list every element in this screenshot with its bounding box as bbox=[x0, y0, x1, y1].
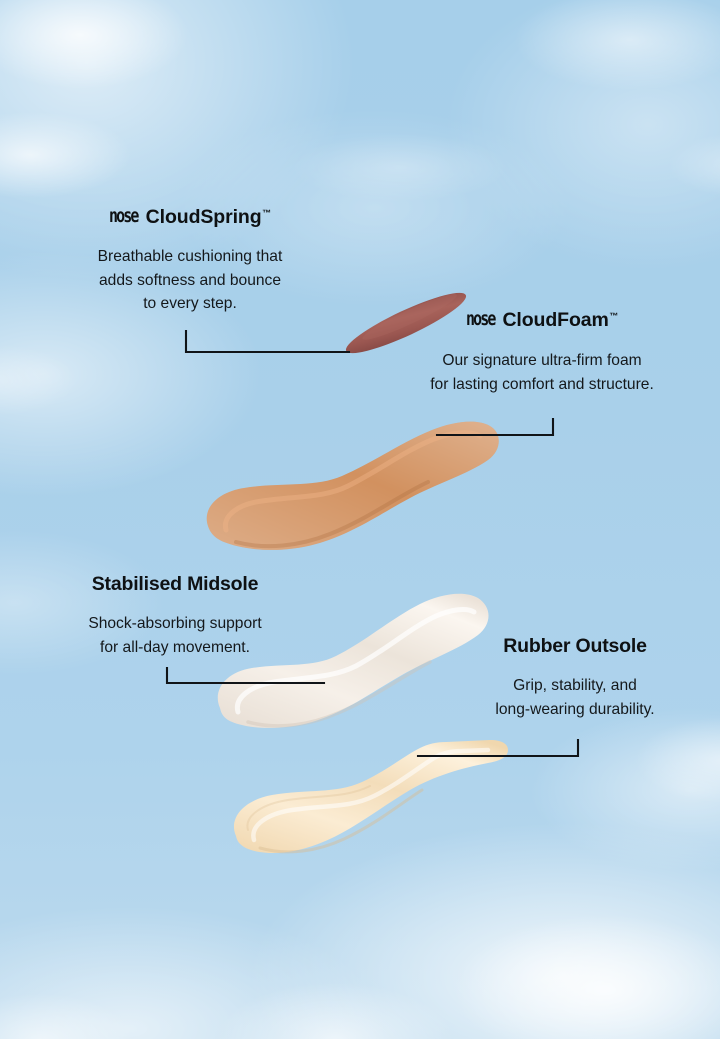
feature-block-midsole: Stabilised Midsole Shock-absorbing suppo… bbox=[18, 573, 332, 659]
feature-body-outsole: Grip, stability, and long-wearing durabi… bbox=[430, 674, 720, 721]
feature-body-midsole: Shock-absorbing support for all-day move… bbox=[18, 612, 332, 659]
feature-title-outsole: Rubber Outsole bbox=[503, 635, 646, 657]
feature-heading-midsole: Stabilised Midsole bbox=[18, 573, 332, 596]
feature-heading-outsole: Rubber Outsole bbox=[430, 635, 720, 658]
feature-block-cloudfoam: noseCloudFoam™ Our signature ultra-firm … bbox=[392, 309, 692, 396]
trademark-icon-cloudfoam: ™ bbox=[609, 311, 618, 321]
cloud-bottom-mid bbox=[170, 960, 500, 1039]
feature-body-cloudspring: Breathable cushioning that adds softness… bbox=[30, 245, 350, 316]
trademark-icon-cloudspring: ™ bbox=[262, 208, 271, 218]
cloud-right-upper bbox=[640, 120, 720, 210]
outsole-layer bbox=[222, 730, 542, 870]
cloud-mid-left bbox=[0, 330, 110, 430]
feature-title-cloudfoam: CloudFoam bbox=[502, 309, 608, 331]
nose-wordmark-cloudspring: nose bbox=[109, 205, 138, 227]
feature-block-cloudspring: noseCloudSpring™ Breathable cushioning t… bbox=[30, 206, 350, 316]
feature-body-cloudfoam: Our signature ultra-firm foam for lastin… bbox=[392, 349, 692, 396]
cloud-center-wisp bbox=[250, 120, 550, 215]
feature-heading-cloudspring: noseCloudSpring™ bbox=[30, 206, 350, 229]
cloud-top-left bbox=[0, 0, 230, 110]
cloudfoam-layer bbox=[196, 408, 506, 558]
feature-title-cloudspring: CloudSpring bbox=[146, 206, 262, 228]
leader-cloudspring bbox=[186, 331, 349, 352]
feature-block-outsole: Rubber Outsole Grip, stability, and long… bbox=[430, 635, 720, 721]
product-anatomy-infographic: noseCloudSpring™ Breathable cushioning t… bbox=[0, 0, 720, 1039]
cloud-left-upper bbox=[0, 95, 170, 215]
cloud-top-right bbox=[470, 0, 720, 110]
cloud-bottom-left bbox=[0, 975, 170, 1039]
feature-title-midsole: Stabilised Midsole bbox=[92, 573, 259, 595]
nose-wordmark-cloudfoam: nose bbox=[466, 308, 495, 330]
feature-heading-cloudfoam: noseCloudFoam™ bbox=[392, 309, 692, 332]
cloud-bottom-right bbox=[395, 885, 720, 1039]
